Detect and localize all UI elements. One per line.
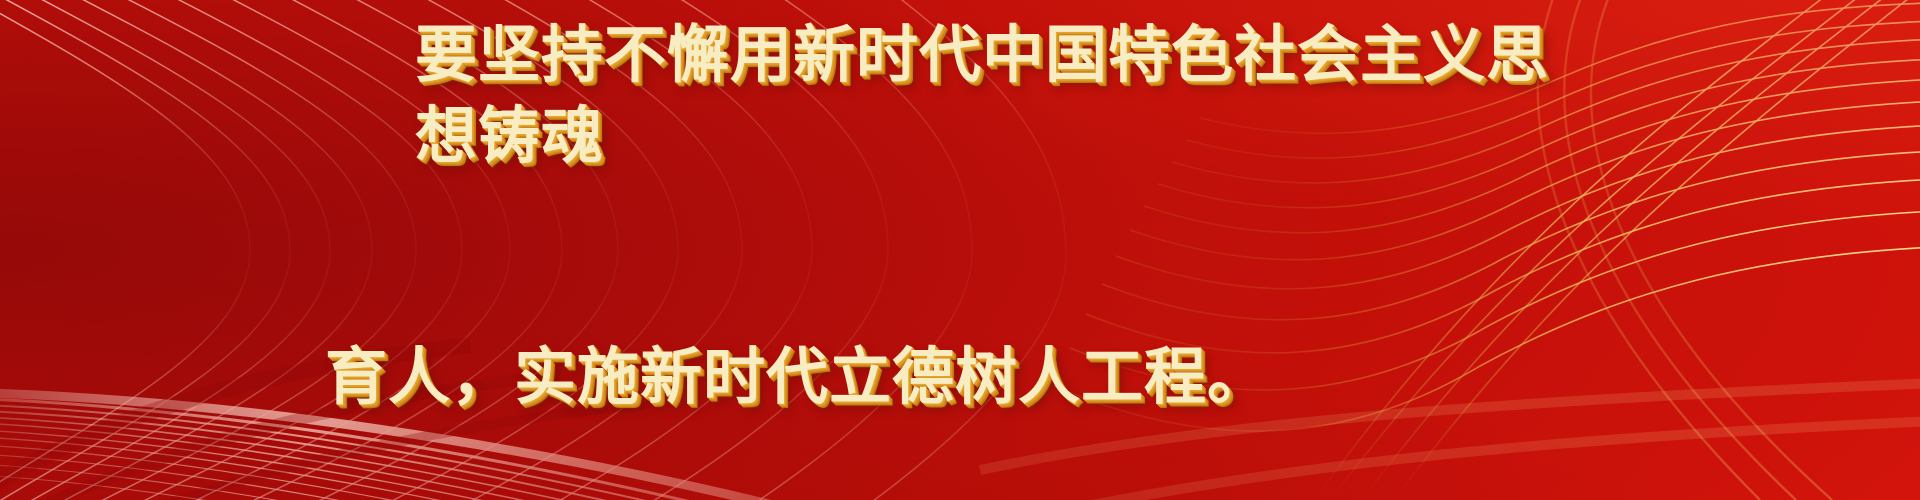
quote-line-2: 育人，实施新时代立德树人工程。 — [325, 338, 1595, 419]
banner-content: 要坚持不懈用新时代中国特色社会主义思想铸魂 育人，实施新时代立德树人工程。 ——… — [0, 0, 1920, 500]
quote-line-1: 要坚持不懈用新时代中国特色社会主义思想铸魂 — [325, 16, 1595, 177]
propaganda-banner: 要坚持不懈用新时代中国特色社会主义思想铸魂 育人，实施新时代立德树人工程。 ——… — [0, 0, 1920, 500]
quote-text: 要坚持不懈用新时代中国特色社会主义思想铸魂 育人，实施新时代立德树人工程。 — [325, 0, 1595, 500]
